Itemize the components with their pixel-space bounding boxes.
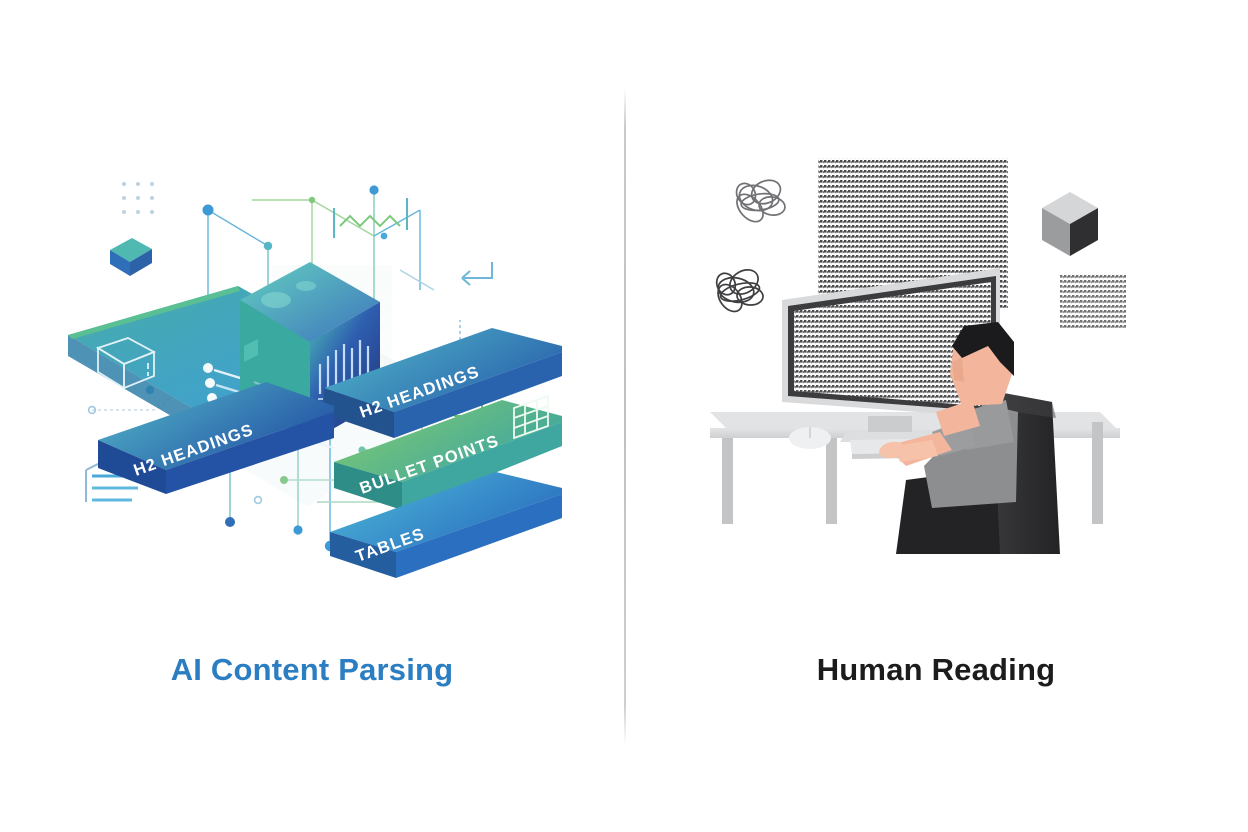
dotted-grid — [122, 182, 154, 214]
caption-left: AI Content Parsing — [0, 652, 624, 688]
tick-marks — [334, 198, 407, 238]
scribble-doodle-bottom — [713, 265, 764, 316]
comparison-figure: H2 HEADINGS BULLET POINTS — [0, 0, 1248, 832]
caption-right: Human Reading — [624, 652, 1248, 688]
vertical-divider — [624, 88, 626, 745]
mouse[interactable] — [789, 427, 831, 449]
scribble-doodle-top — [732, 176, 786, 227]
grey-cube-icon — [1042, 192, 1098, 256]
chip-icon — [110, 238, 152, 276]
floating-text-block — [1058, 272, 1130, 332]
human-reading-illustration — [700, 150, 1200, 590]
ai-content-parsing-illustration: H2 HEADINGS BULLET POINTS — [62, 150, 562, 590]
